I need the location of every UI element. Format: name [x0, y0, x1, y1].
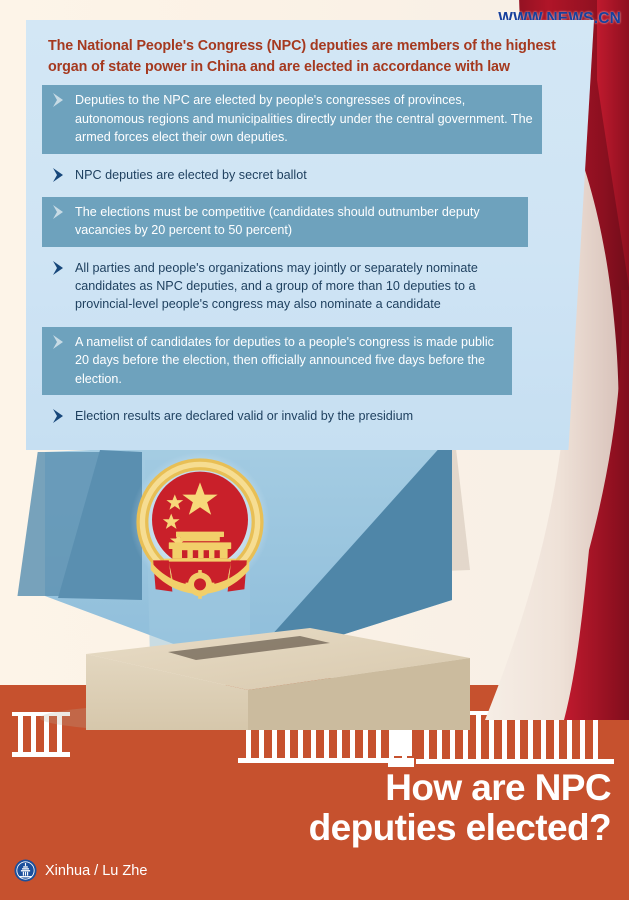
chevron-right-icon [51, 167, 68, 183]
credit: Xinhua / Lu Zhe [14, 859, 147, 882]
list-item-label: The elections must be competitive (candi… [75, 203, 520, 240]
chevron-right-icon [51, 334, 68, 350]
chevron-right-icon [51, 408, 68, 424]
list-item-label: Election results are declared valid or i… [75, 407, 496, 425]
xinhua-logo-icon [14, 859, 37, 882]
list-item: NPC deputies are elected by secret ballo… [42, 160, 536, 191]
list-item: A namelist of candidates for deputies to… [42, 327, 512, 395]
list-item: The elections must be competitive (candi… [42, 197, 528, 247]
poster-headline-line2: deputies elected? [281, 808, 611, 848]
list-item: Election results are declared valid or i… [42, 401, 504, 432]
list-item: All parties and people's organizations m… [42, 253, 522, 321]
list-item: Deputies to the NPC are elected by peopl… [42, 85, 542, 153]
infographic-poster: WWW.NEWS.CN The National People's Congre… [0, 0, 629, 900]
poster-headline-line1: How are NPC [385, 767, 611, 808]
poster-headline: How are NPC deputies elected? [281, 768, 611, 848]
chevron-right-icon [51, 92, 68, 108]
content-panel: The National People's Congress (NPC) dep… [26, 20, 594, 450]
credit-label: Xinhua / Lu Zhe [45, 863, 147, 879]
page-title: The National People's Congress (NPC) dep… [42, 34, 578, 85]
chevron-right-icon [51, 204, 68, 220]
list-item-label: Deputies to the NPC are elected by peopl… [75, 91, 534, 146]
list-item-label: NPC deputies are elected by secret ballo… [75, 166, 528, 184]
list-item-label: All parties and people's organizations m… [75, 259, 514, 314]
list-item-label: A namelist of candidates for deputies to… [75, 333, 504, 388]
chevron-right-icon [51, 260, 68, 276]
bullet-list: Deputies to the NPC are elected by peopl… [42, 85, 578, 432]
